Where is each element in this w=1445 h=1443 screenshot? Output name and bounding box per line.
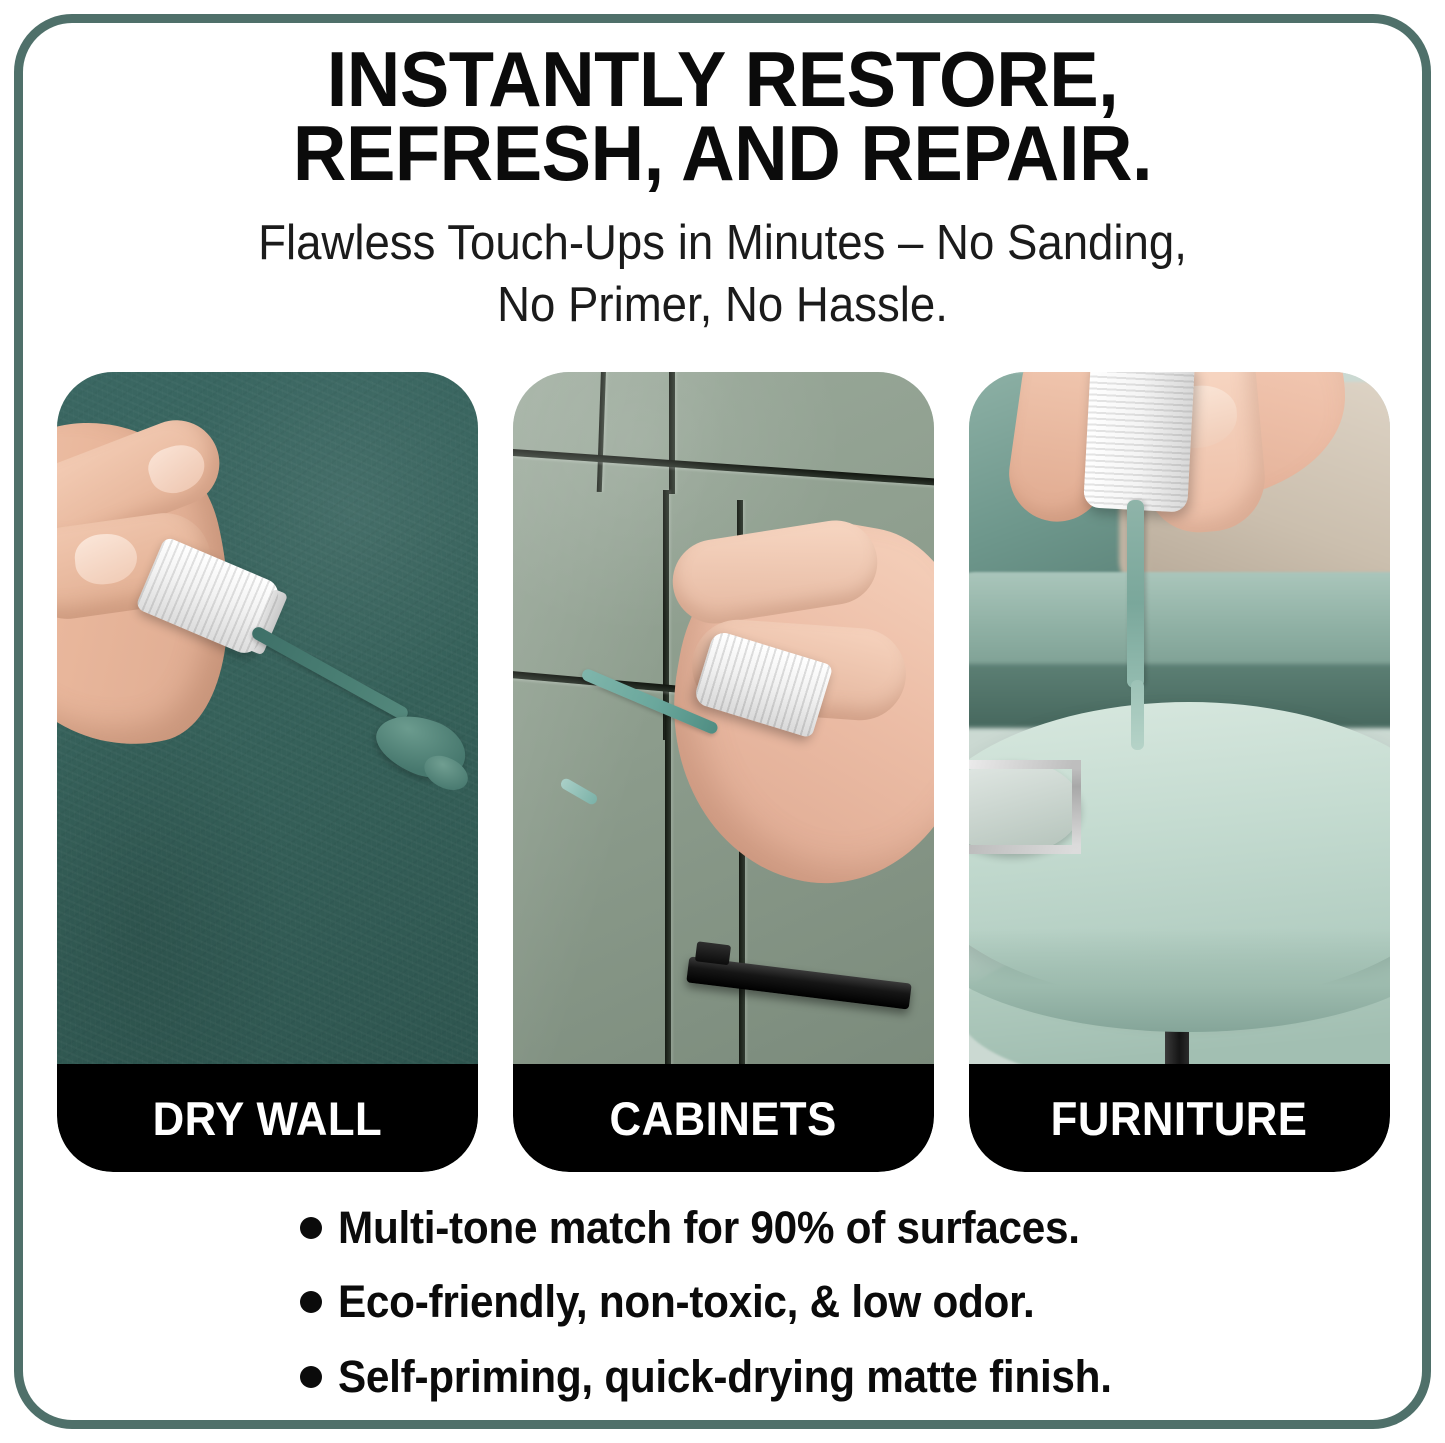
panel-dry-wall-photo bbox=[57, 372, 478, 1064]
benefit-text: Self-priming, quick-drying matte finish. bbox=[338, 1352, 1112, 1402]
product-infographic: INSTANTLY RESTORE, REFRESH, AND REPAIR. … bbox=[0, 0, 1445, 1443]
panel-furniture-photo bbox=[969, 372, 1390, 1064]
panel-caption-dry-wall: DRY WALL bbox=[57, 1064, 478, 1172]
benefit-text: Eco-friendly, non-toxic, & low odor. bbox=[338, 1277, 1034, 1327]
headline-line-2: REFRESH, AND REPAIR. bbox=[103, 116, 1343, 190]
page-title: INSTANTLY RESTORE, REFRESH, AND REPAIR. bbox=[103, 42, 1343, 190]
panel-label-cabinets: CABINETS bbox=[610, 1091, 837, 1146]
list-item: Self-priming, quick-drying matte finish. bbox=[300, 1352, 1200, 1402]
paint-stroke bbox=[1127, 500, 1144, 688]
paint-stroke-tip bbox=[1131, 680, 1144, 750]
list-item: Multi-tone match for 90% of surfaces. bbox=[300, 1203, 1200, 1253]
bullet-dot-icon bbox=[300, 1291, 322, 1313]
bullet-dot-icon bbox=[300, 1366, 322, 1388]
applicator-cap bbox=[1083, 372, 1195, 513]
page-subtitle: Flawless Touch-Ups in Minutes – No Sandi… bbox=[162, 212, 1283, 336]
panel-cabinets-photo bbox=[513, 372, 934, 1064]
panel-caption-furniture: FURNITURE bbox=[969, 1064, 1390, 1172]
panel-caption-cabinets: CABINETS bbox=[513, 1064, 934, 1172]
subhead-line-2: No Primer, No Hassle. bbox=[162, 274, 1283, 336]
bullet-dot-icon bbox=[300, 1217, 322, 1239]
panel-label-furniture: FURNITURE bbox=[1051, 1091, 1308, 1146]
use-case-panels: DRY WALL bbox=[57, 372, 1390, 1172]
benefits-list: Multi-tone match for 90% of surfaces. Ec… bbox=[300, 1203, 1200, 1402]
list-item: Eco-friendly, non-toxic, & low odor. bbox=[300, 1277, 1200, 1327]
panel-furniture: FURNITURE bbox=[969, 372, 1390, 1172]
benefit-text: Multi-tone match for 90% of surfaces. bbox=[338, 1203, 1080, 1253]
panel-label-dry-wall: DRY WALL bbox=[153, 1091, 383, 1146]
panel-dry-wall: DRY WALL bbox=[57, 372, 478, 1172]
subhead-line-1: Flawless Touch-Ups in Minutes – No Sandi… bbox=[162, 212, 1283, 274]
headline-line-1: INSTANTLY RESTORE, bbox=[103, 42, 1343, 116]
panel-cabinets: CABINETS bbox=[513, 372, 934, 1172]
